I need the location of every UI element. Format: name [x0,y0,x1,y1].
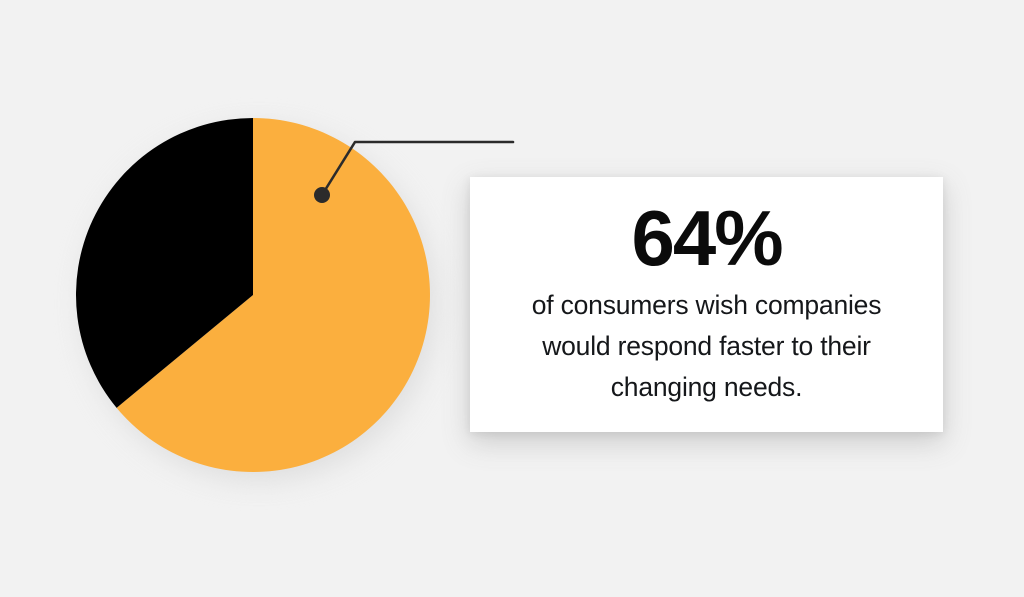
stat-value: 64% [631,199,781,279]
pie-chart-svg [76,118,430,472]
stat-caption: of consumers wish companies would respon… [507,285,907,408]
infographic-canvas: 64% of consumers wish companies would re… [0,0,1024,597]
pie-chart [76,118,430,472]
stat-card: 64% of consumers wish companies would re… [470,177,943,432]
